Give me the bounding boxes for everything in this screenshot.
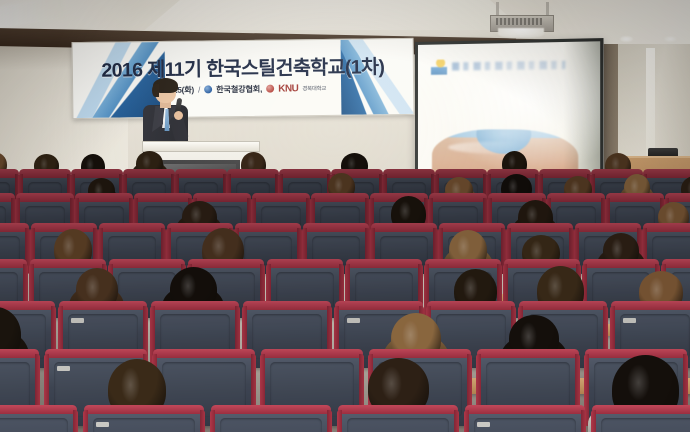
seat-frame-right (581, 410, 586, 432)
seat-number-tag (57, 366, 70, 371)
knu-logo-icon (266, 85, 274, 93)
audience-member-hair-highlight (526, 205, 538, 225)
auditorium-seat (87, 410, 201, 432)
audience-member-hair-highlight (399, 201, 411, 221)
audience-seating-area (0, 172, 690, 432)
presenter-hand (174, 111, 183, 120)
audience-member-hair-highlight (630, 178, 639, 194)
seat-frame-right (73, 410, 78, 432)
audience-member-hair-highlight (520, 322, 537, 351)
audience-member-hair-highlight (190, 205, 202, 224)
presenter-hair-side (152, 84, 159, 97)
audience-member-hair-highlight (85, 274, 99, 300)
seat-back-panel (347, 418, 449, 432)
auditorium-seat (468, 410, 582, 432)
ksa-logo-icon (204, 85, 212, 93)
audience-member-hair-highlight (627, 364, 650, 402)
banner-title: 2016 제11기 한국스틸건축학교(1차) (73, 50, 413, 83)
event-banner: 2016 제11기 한국스틸건축학교(1차) .10.25(화) / 한국철강협… (72, 38, 415, 119)
seminar-photograph: 2016 제11기 한국스틸건축학교(1차) .10.25(화) / 한국철강협… (0, 0, 690, 432)
audience-member-hair-highlight (611, 238, 623, 260)
seat-frame-right (200, 410, 205, 432)
seat-back-panel (220, 418, 322, 432)
slide-logo-icon (431, 59, 447, 74)
seat-number-tag (347, 318, 360, 323)
audience-member-hair-highlight (121, 367, 141, 403)
seat-number-tag (96, 422, 109, 427)
audience-member-hair-highlight (463, 275, 478, 301)
audience-member-hair-highlight (62, 234, 75, 257)
auditorium-seat (214, 410, 328, 432)
auditorium-seat (0, 410, 74, 432)
booth-downlight (664, 36, 677, 42)
projector-lens-glow (498, 28, 544, 38)
projector-vent (496, 18, 542, 25)
audience-member-hair-highlight (211, 234, 225, 258)
banner-organizer: 한국철강협회, (216, 83, 262, 96)
seat-back-panel (0, 418, 68, 432)
seat-number-tag (71, 318, 84, 323)
seat-frame-right (327, 410, 332, 432)
seat-back-panel (601, 418, 690, 432)
audience-member-hair-highlight (402, 320, 419, 350)
screen-edge-shadow (563, 41, 600, 186)
banner-partner-full: 경북대학교 (302, 84, 326, 92)
auditorium-seat (595, 410, 690, 432)
booth-downlight (620, 36, 633, 42)
seat-number-tag (477, 422, 490, 427)
banner-partner-abbr: KNU (278, 83, 298, 94)
seat-frame-right (454, 410, 459, 432)
audience-member-hair-highlight (142, 154, 151, 168)
audience-member-hair-highlight (649, 277, 664, 302)
auditorium-seat (341, 410, 455, 432)
seat-number-tag (623, 318, 636, 323)
audience-member-hair-highlight (247, 155, 256, 170)
slide-title-text (452, 61, 565, 71)
audience-member-hair-highlight (508, 154, 517, 169)
ceiling-projector (476, 2, 568, 42)
